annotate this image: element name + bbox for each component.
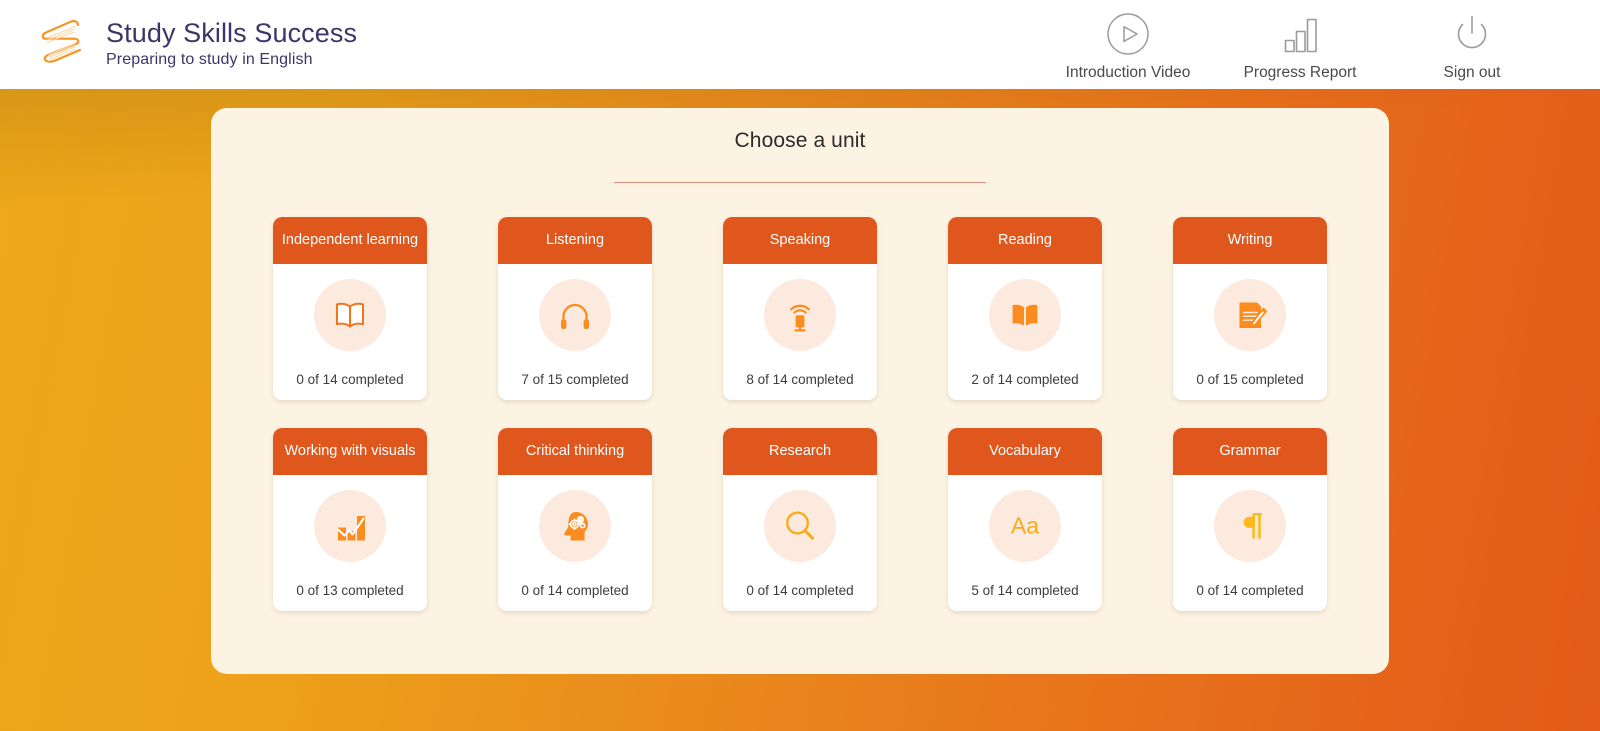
card-body: 0 of 15 completed bbox=[1173, 264, 1327, 400]
card-body: Aa 5 of 14 completed bbox=[948, 475, 1102, 611]
power-icon bbox=[1450, 11, 1494, 57]
unit-card-working-with-visuals[interactable]: Working with visuals bbox=[273, 428, 427, 611]
nav-label: Sign out bbox=[1444, 64, 1501, 82]
card-body: 0 of 14 completed bbox=[498, 475, 652, 611]
unit-card-grammar[interactable]: Grammar 0 of 14 completed bbox=[1173, 428, 1327, 611]
unit-status: 0 of 15 completed bbox=[1196, 372, 1303, 387]
card-body: 2 of 14 completed bbox=[948, 264, 1102, 400]
unit-card-critical-thinking[interactable]: Critical thinking bbox=[498, 428, 652, 611]
card-header: Speaking bbox=[723, 217, 877, 264]
card-header: Reading bbox=[948, 217, 1102, 264]
brand-title: Study Skills Success bbox=[106, 19, 357, 48]
page-title: Choose a unit bbox=[211, 108, 1389, 153]
bar-chart-icon bbox=[1277, 11, 1323, 57]
card-header: Writing bbox=[1173, 217, 1327, 264]
unit-status: 0 of 14 completed bbox=[521, 583, 628, 598]
unit-name: Reading bbox=[998, 231, 1052, 249]
unit-status: 0 of 13 completed bbox=[296, 583, 403, 598]
unit-name: Writing bbox=[1228, 231, 1273, 249]
unit-card-writing[interactable]: Writing bbox=[1173, 217, 1327, 400]
card-body: 0 of 14 completed bbox=[1173, 475, 1327, 611]
brand-text: Study Skills Success Preparing to study … bbox=[106, 19, 357, 70]
unit-status: 7 of 15 completed bbox=[521, 372, 628, 387]
unit-status: 2 of 14 completed bbox=[971, 372, 1078, 387]
unit-name: Listening bbox=[546, 231, 604, 249]
unit-name: Vocabulary bbox=[989, 442, 1061, 460]
card-body: 0 of 14 completed bbox=[723, 475, 877, 611]
unit-card-research[interactable]: Research 0 of 14 completed bbox=[723, 428, 877, 611]
card-body: 8 of 14 completed bbox=[723, 264, 877, 400]
unit-status: 5 of 14 completed bbox=[971, 583, 1078, 598]
nav-label: Progress Report bbox=[1244, 64, 1357, 82]
unit-chooser-panel: Choose a unit Independent learning bbox=[211, 108, 1389, 674]
card-header: Independent learning bbox=[273, 217, 427, 264]
unit-status: 8 of 14 completed bbox=[746, 372, 853, 387]
svg-text:Aa: Aa bbox=[1011, 513, 1039, 539]
card-header: Working with visuals bbox=[273, 428, 427, 475]
unit-name: Critical thinking bbox=[526, 442, 624, 460]
card-body: 0 of 13 completed bbox=[273, 475, 427, 611]
nav-progress-report[interactable]: Progress Report bbox=[1214, 7, 1386, 82]
unit-row: Independent learning bbox=[273, 217, 1327, 400]
unit-card-vocabulary[interactable]: Vocabulary Aa 5 of 14 completed bbox=[948, 428, 1102, 611]
unit-status: 0 of 14 completed bbox=[1196, 583, 1303, 598]
card-header: Vocabulary bbox=[948, 428, 1102, 475]
nav-sign-out[interactable]: Sign out bbox=[1386, 7, 1558, 82]
unit-name: Working with visuals bbox=[284, 442, 415, 460]
unit-name: Grammar bbox=[1219, 442, 1280, 460]
brand-logo[interactable]: Study Skills Success Preparing to study … bbox=[34, 17, 357, 73]
card-header: Critical thinking bbox=[498, 428, 652, 475]
bar-chart-trend-icon bbox=[314, 490, 386, 562]
unit-card-reading[interactable]: Reading 2 of 14 completed bbox=[948, 217, 1102, 400]
nav-label: Introduction Video bbox=[1066, 64, 1191, 82]
card-body: 7 of 15 completed bbox=[498, 264, 652, 400]
brand-subtitle: Preparing to study in English bbox=[106, 49, 357, 71]
unit-name: Independent learning bbox=[282, 231, 418, 249]
unit-card-independent-learning[interactable]: Independent learning bbox=[273, 217, 427, 400]
play-circle-icon bbox=[1106, 11, 1150, 57]
document-pencil-icon bbox=[1214, 279, 1286, 351]
card-header: Research bbox=[723, 428, 877, 475]
card-header: Listening bbox=[498, 217, 652, 264]
card-header: Grammar bbox=[1173, 428, 1327, 475]
unit-row: Working with visuals bbox=[273, 428, 1327, 611]
nav-introduction-video[interactable]: Introduction Video bbox=[1042, 7, 1214, 82]
unit-status: 0 of 14 completed bbox=[296, 372, 403, 387]
unit-name: Research bbox=[769, 442, 831, 460]
card-body: 0 of 14 completed bbox=[273, 264, 427, 400]
magnifier-icon bbox=[764, 490, 836, 562]
open-book-outline-icon bbox=[314, 279, 386, 351]
unit-grid: Independent learning bbox=[211, 217, 1389, 611]
unit-card-speaking[interactable]: Speaking bbox=[723, 217, 877, 400]
page-background: Choose a unit Independent learning bbox=[0, 89, 1600, 731]
app-header: Study Skills Success Preparing to study … bbox=[0, 0, 1600, 89]
unit-name: Speaking bbox=[770, 231, 830, 249]
header-nav: Introduction Video Progress Report bbox=[1042, 7, 1558, 82]
pilcrow-icon bbox=[1214, 490, 1286, 562]
head-gears-icon bbox=[539, 490, 611, 562]
aa-letters-icon: Aa bbox=[989, 490, 1061, 562]
open-book-solid-icon bbox=[989, 279, 1061, 351]
unit-status: 0 of 14 completed bbox=[746, 583, 853, 598]
headphones-icon bbox=[539, 279, 611, 351]
unit-card-listening[interactable]: Listening 7 of 15 completed bbox=[498, 217, 652, 400]
stacked-books-s-logo-icon bbox=[34, 17, 92, 73]
title-divider bbox=[614, 182, 986, 183]
microphone-broadcast-icon bbox=[764, 279, 836, 351]
